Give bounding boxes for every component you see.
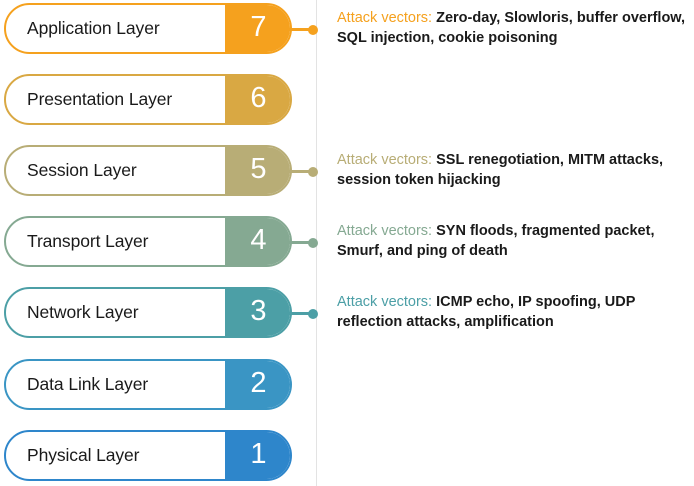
layer-number: 5 [250, 155, 266, 184]
layer-pill-3[interactable]: Network Layer3 [4, 287, 292, 338]
layer-name-label: Data Link Layer [27, 361, 148, 408]
layer-number: 2 [250, 369, 266, 398]
layer-pill-7[interactable]: Application Layer7 [4, 3, 292, 54]
layer-pill-6[interactable]: Presentation Layer6 [4, 74, 292, 125]
connector-dot [308, 25, 318, 35]
layer-row[interactable]: Transport Layer4 [4, 216, 292, 267]
layer-name-label: Session Layer [27, 147, 137, 194]
layer-pill-5[interactable]: Session Layer5 [4, 145, 292, 196]
attack-vectors-label: Attack vectors: [337, 294, 432, 310]
connector-line-3 [288, 312, 318, 315]
layer-row[interactable]: Data Link Layer2 [4, 359, 292, 410]
attack-vectors-label: Attack vectors: [337, 152, 432, 168]
layer-name-label: Presentation Layer [27, 76, 172, 123]
layer-row[interactable]: Network Layer3 [4, 287, 292, 338]
layer-row[interactable]: Physical Layer1 [4, 430, 292, 481]
layer-name-label: Application Layer [27, 5, 160, 52]
attack-vectors-note: Attack vectors: ICMP echo, IP spoofing, … [337, 292, 687, 332]
layer-number: 3 [250, 297, 266, 326]
layer-row[interactable]: Session Layer5 [4, 145, 292, 196]
layer-pill-1[interactable]: Physical Layer1 [4, 430, 292, 481]
osi-model-diagram: Application Layer7Presentation Layer6Ses… [0, 0, 694, 486]
layer-number-badge: 6 [225, 74, 292, 125]
connector-dot [308, 238, 318, 248]
layer-row[interactable]: Presentation Layer6 [4, 74, 292, 125]
attack-vectors-label: Attack vectors: [337, 10, 432, 26]
layer-number-badge: 3 [225, 287, 292, 338]
attack-vectors-note: Attack vectors: Zero-day, Slowloris, buf… [337, 8, 687, 48]
layer-name-label: Network Layer [27, 289, 139, 336]
layer-number-badge: 1 [225, 430, 292, 481]
layer-number: 6 [250, 84, 266, 113]
attack-vectors-note: Attack vectors: SYN floods, fragmented p… [337, 221, 687, 261]
connector-line-7 [288, 28, 318, 31]
layer-number-badge: 4 [225, 216, 292, 267]
layer-name-label: Transport Layer [27, 218, 148, 265]
layer-number: 1 [250, 440, 266, 469]
layer-name-label: Physical Layer [27, 432, 139, 479]
connector-line-4 [288, 241, 318, 244]
layer-number-badge: 5 [225, 145, 292, 196]
connector-dot [308, 167, 318, 177]
layer-number: 4 [250, 226, 266, 255]
connector-dot [308, 309, 318, 319]
attack-vectors-label: Attack vectors: [337, 223, 432, 239]
layer-number-badge: 2 [225, 359, 292, 410]
attack-vectors-note: Attack vectors: SSL renegotiation, MITM … [337, 150, 687, 190]
layer-pill-2[interactable]: Data Link Layer2 [4, 359, 292, 410]
layer-number: 7 [250, 13, 266, 42]
layer-pill-4[interactable]: Transport Layer4 [4, 216, 292, 267]
layer-row[interactable]: Application Layer7 [4, 3, 292, 54]
connector-line-5 [288, 170, 318, 173]
layer-number-badge: 7 [225, 3, 292, 54]
